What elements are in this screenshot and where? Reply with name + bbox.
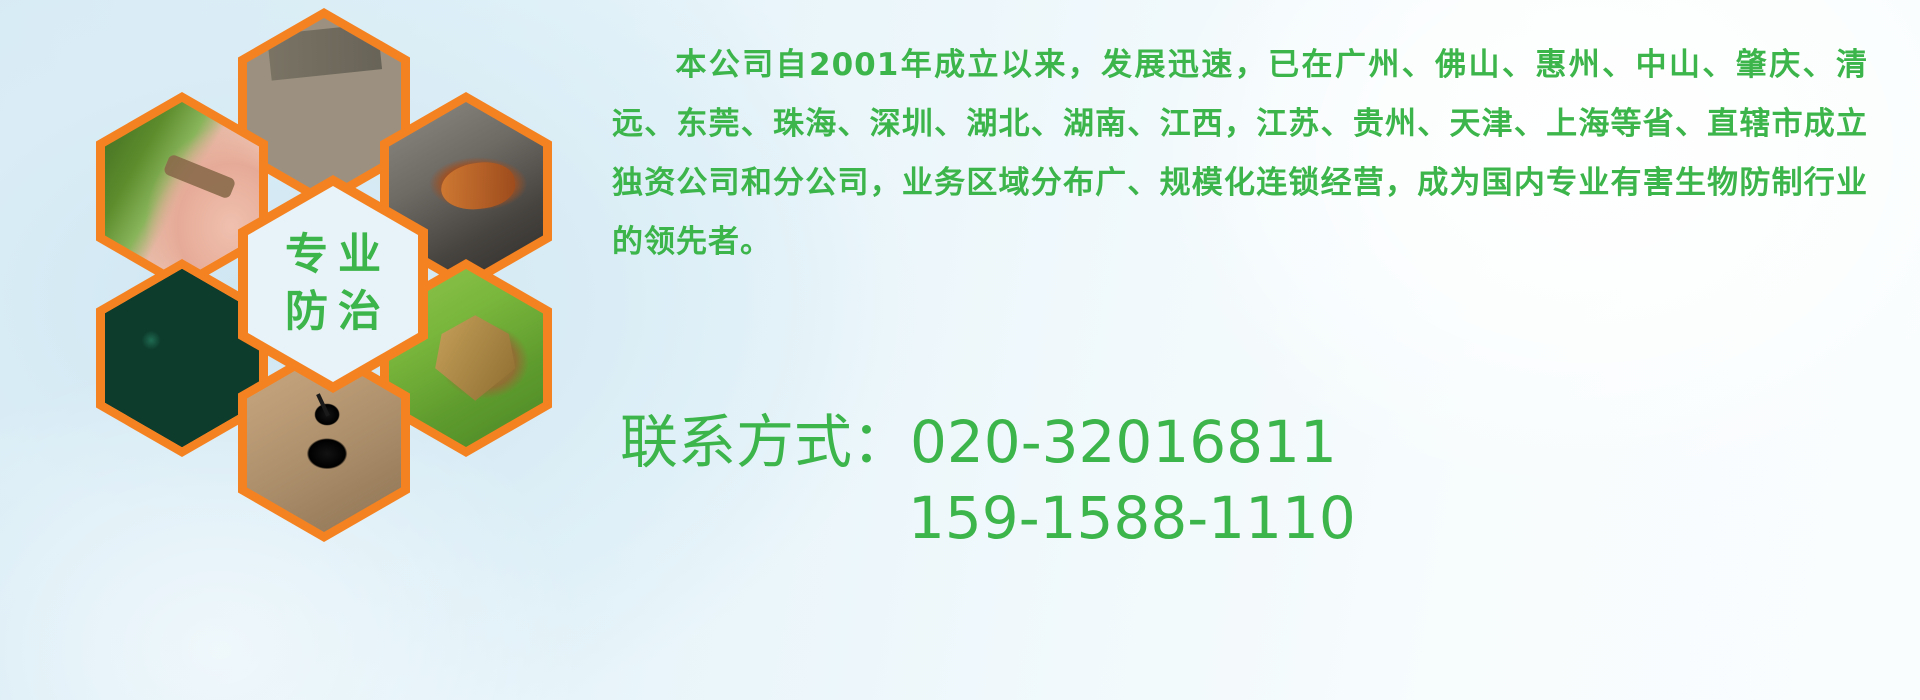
copy-column: 本公司自2001年成立以来，发展迅速，已在广州、佛山、惠州、中山、肇庆、清远、东…	[612, 36, 1868, 272]
hex-inner-mosquito	[105, 102, 259, 280]
honeycomb-cluster: 专业 防治	[78, 8, 598, 578]
hex-inner-rodents	[247, 18, 401, 196]
contact-line-secondary[interactable]: 159-1588-1110	[620, 480, 1910, 556]
contact-line-primary[interactable]: 联系方式：020-32016811	[620, 404, 1910, 480]
contact-block: 联系方式：020-32016811 159-1588-1110	[620, 404, 1910, 556]
promo-banner: 专业 防治 本公司自2001年成立以来，发展迅速，已在广州、佛山、惠州、中山、肇…	[0, 0, 1920, 700]
mosquito-photo	[105, 102, 259, 280]
hex-inner-flies	[105, 269, 259, 447]
slogan-line-1: 专业	[275, 234, 391, 277]
hex-inner-slogan: 专业 防治	[248, 186, 418, 382]
paragraph-text: 本公司自2001年成立以来，发展迅速，已在广州、佛山、惠州、中山、肇庆、清远、东…	[612, 47, 1868, 260]
slogan-line-2: 防治	[275, 291, 391, 334]
rodent-photo	[247, 18, 401, 196]
flies-photo	[105, 269, 259, 447]
slogan-text: 专业 防治	[248, 186, 418, 382]
company-intro-paragraph: 本公司自2001年成立以来，发展迅速，已在广州、佛山、惠州、中山、肇庆、清远、东…	[612, 36, 1868, 272]
